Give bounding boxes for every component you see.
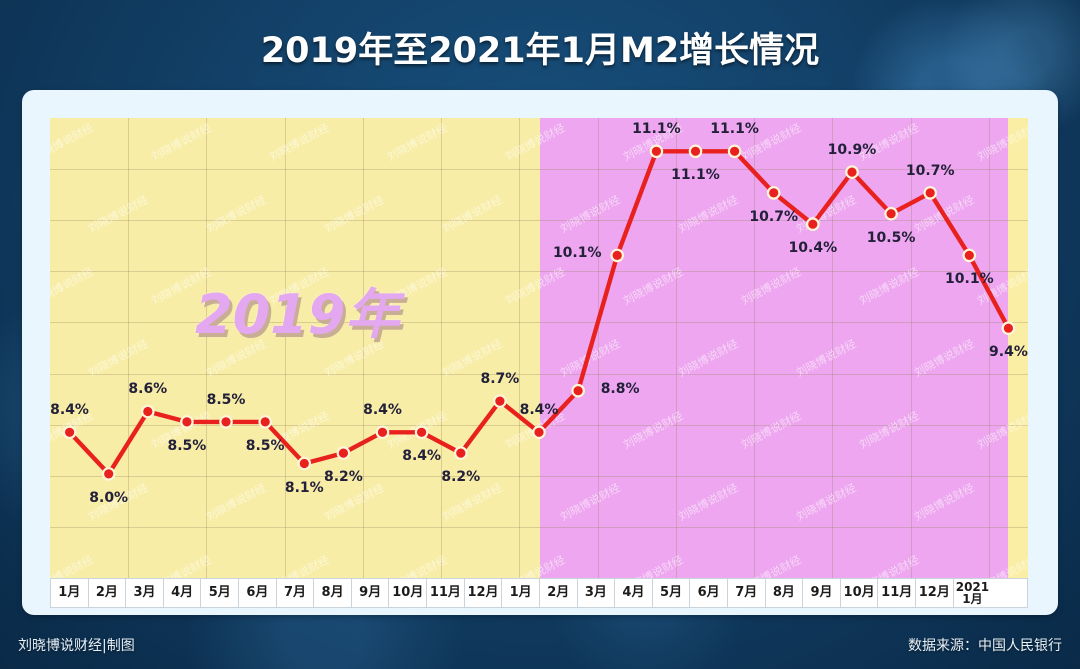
data-point[interactable] — [104, 469, 113, 478]
x-axis-label: 4月 — [164, 579, 202, 607]
footer-credit: 刘晓博说财经|制图 — [18, 635, 135, 655]
x-axis-label: 20211月 — [954, 579, 992, 607]
data-point[interactable] — [143, 407, 152, 416]
x-axis-label-line: 1月 — [962, 593, 982, 605]
x-axis-label: 8月 — [314, 579, 352, 607]
data-point[interactable] — [456, 449, 465, 458]
data-point[interactable] — [182, 417, 191, 426]
data-point[interactable] — [887, 209, 896, 218]
data-point[interactable] — [261, 417, 270, 426]
x-axis-label: 2月 — [89, 579, 127, 607]
x-axis-label: 6月 — [690, 579, 728, 607]
x-axis-label: 1月 — [502, 579, 540, 607]
x-axis-label: 11月 — [427, 579, 465, 607]
page-title: 2019年至2021年1月M2增长情况 — [0, 22, 1080, 73]
x-axis-label: 7月 — [277, 579, 315, 607]
data-point[interactable] — [808, 220, 817, 229]
footer-source: 数据来源：中国人民银行 — [908, 635, 1062, 655]
data-point[interactable] — [300, 459, 309, 468]
data-point[interactable] — [339, 449, 348, 458]
x-axis-label: 10月 — [389, 579, 427, 607]
data-point[interactable] — [926, 188, 935, 197]
data-point[interactable] — [574, 386, 583, 395]
series-line — [50, 118, 1028, 578]
data-point[interactable] — [613, 251, 622, 260]
data-point[interactable] — [1004, 324, 1013, 333]
x-axis-label: 5月 — [201, 579, 239, 607]
data-point[interactable] — [534, 428, 543, 437]
x-axis-label: 3月 — [126, 579, 164, 607]
x-axis-label: 11月 — [878, 579, 916, 607]
x-axis-label: 7月 — [728, 579, 766, 607]
data-point[interactable] — [417, 428, 426, 437]
x-axis: 1月2月3月4月5月6月7月8月9月10月11月12月1月2月3月4月5月6月7… — [50, 578, 1028, 608]
x-axis-label: 4月 — [615, 579, 653, 607]
x-axis-label: 5月 — [653, 579, 691, 607]
x-axis-label: 1月 — [51, 579, 89, 607]
x-axis-label: 8月 — [766, 579, 804, 607]
data-point[interactable] — [378, 428, 387, 437]
x-axis-label: 9月 — [803, 579, 841, 607]
x-axis-label: 12月 — [916, 579, 954, 607]
data-point[interactable] — [652, 147, 661, 156]
x-axis-label: 3月 — [578, 579, 616, 607]
x-axis-label: 10月 — [841, 579, 879, 607]
data-point[interactable] — [65, 428, 74, 437]
data-point[interactable] — [847, 168, 856, 177]
x-axis-label: 12月 — [465, 579, 503, 607]
plot-area: 刘晓博说财经刘晓博说财经刘晓博说财经刘晓博说财经刘晓博说财经刘晓博说财经刘晓博说… — [50, 118, 1028, 578]
x-axis-label: 2月 — [540, 579, 578, 607]
data-point[interactable] — [221, 417, 230, 426]
x-axis-label: 6月 — [239, 579, 277, 607]
data-point[interactable] — [691, 147, 700, 156]
x-axis-label: 9月 — [352, 579, 390, 607]
chart-card: 刘晓博说财经刘晓博说财经刘晓博说财经刘晓博说财经刘晓博说财经刘晓博说财经刘晓博说… — [22, 90, 1058, 615]
data-point[interactable] — [965, 251, 974, 260]
data-point[interactable] — [769, 188, 778, 197]
data-point[interactable] — [730, 147, 739, 156]
data-point[interactable] — [495, 397, 504, 406]
